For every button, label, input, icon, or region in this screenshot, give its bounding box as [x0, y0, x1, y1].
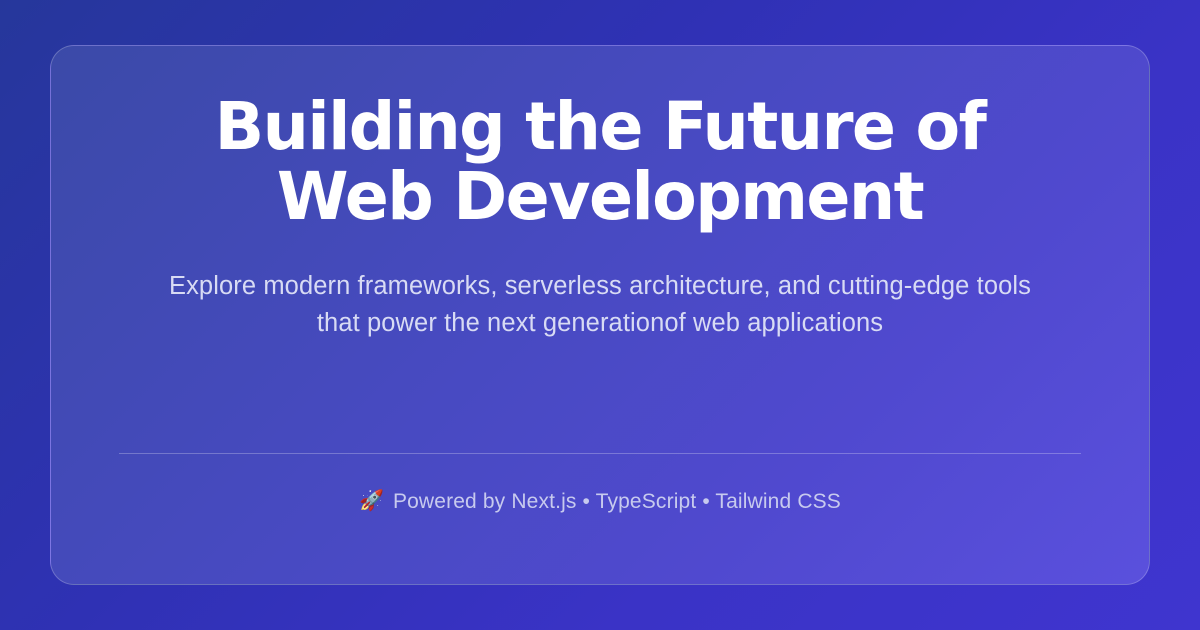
page-subtitle: Explore modern frameworks, serverless ar…	[164, 268, 1036, 342]
og-image-canvas: { "card": { "title": "Building the Futur…	[0, 0, 1200, 630]
footer-credits-label: Powered by Next.js • TypeScript • Tailwi…	[393, 490, 841, 514]
card-footer: 🚀 Powered by Next.js • TypeScript • Tail…	[119, 453, 1081, 550]
footer-credits: 🚀 Powered by Next.js • TypeScript • Tail…	[119, 454, 1081, 550]
og-card: Building the Future of Web Development E…	[50, 45, 1150, 585]
rocket-icon: 🚀	[359, 491, 384, 511]
page-title: Building the Future of Web Development	[167, 92, 1034, 232]
card-body: Building the Future of Web Development E…	[119, 92, 1081, 453]
